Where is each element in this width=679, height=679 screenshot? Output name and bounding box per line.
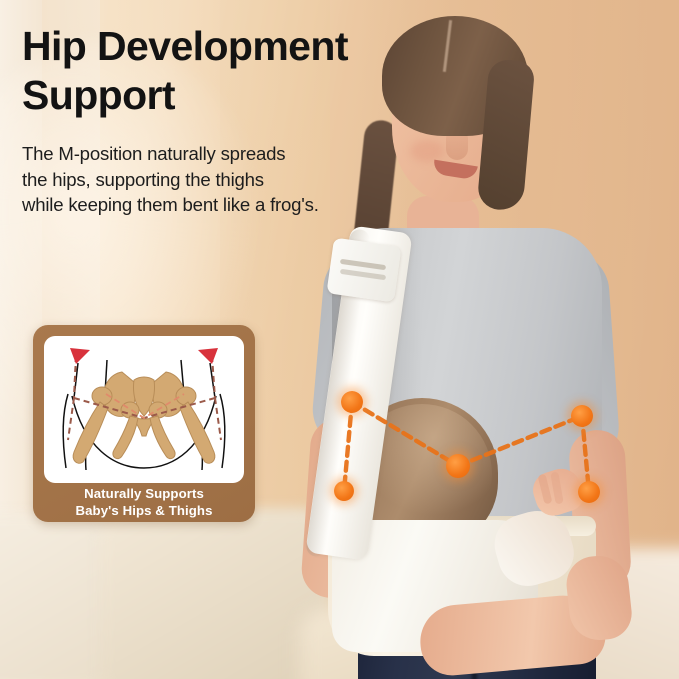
headline-line-2: Support [22,71,442,120]
caption-line-1: Naturally Supports [33,485,255,502]
body-line-2: the hips, supporting the thighs [22,167,452,193]
sofa-cushion-center [100,508,330,679]
m-point-right-knee [571,405,593,427]
m-point-left-knee [341,391,363,413]
hip-anatomy-diagram [44,336,244,483]
body-line-3: while keeping them bent like a frog's. [22,192,452,218]
m-point-left-foot [334,481,354,501]
product-feature-image: Hip Development Support The M-position n… [0,0,679,679]
caption-line-2: Baby's Hips & Thighs [33,502,255,519]
body-copy: The M-position naturally spreads the hip… [22,141,452,218]
carrier-buckle [326,238,401,303]
m-point-center-seat [446,454,470,478]
arrow-marker [70,348,218,364]
m-point-right-foot [578,481,600,503]
page-title: Hip Development Support [22,22,442,120]
headline-line-1: Hip Development [22,22,442,71]
body-line-1: The M-position naturally spreads [22,141,452,167]
anatomy-svg [44,336,244,483]
inset-card-caption: Naturally Supports Baby's Hips & Thighs [33,485,255,519]
